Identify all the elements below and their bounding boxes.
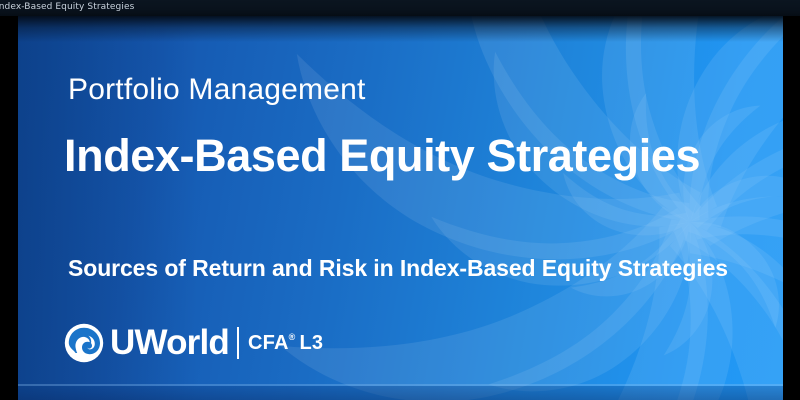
uworld-swirl-icon [64, 323, 104, 363]
window-title-text: Index-Based Equity Strategies [0, 1, 134, 14]
credential-level: L3 [299, 330, 323, 356]
uworld-wordmark: UWorld [110, 323, 229, 363]
presentation-slide: Portfolio Management Index-Based Equity … [18, 16, 783, 400]
slide-headline-title: Index-Based Equity Strategies [64, 128, 700, 184]
slide-eyebrow-topic: Portfolio Management [68, 71, 366, 109]
letterbox-bar-right [783, 0, 800, 400]
uworld-logo-lockup: UWorld CFA ® L3 [64, 319, 323, 367]
letterbox-bar-left [0, 0, 18, 400]
window-title-bar: Index-Based Equity Strategies [0, 0, 800, 16]
registered-trademark-icon: ® [289, 331, 296, 343]
credential-label: CFA [248, 330, 289, 356]
video-player: Portfolio Management Index-Based Equity … [0, 0, 800, 400]
slide-content: Portfolio Management Index-Based Equity … [18, 16, 783, 400]
credential-badge: CFA ® L3 [248, 330, 323, 356]
slide-subtitle: Sources of Return and Risk in Index-Base… [68, 252, 728, 284]
logo-divider [237, 327, 239, 359]
